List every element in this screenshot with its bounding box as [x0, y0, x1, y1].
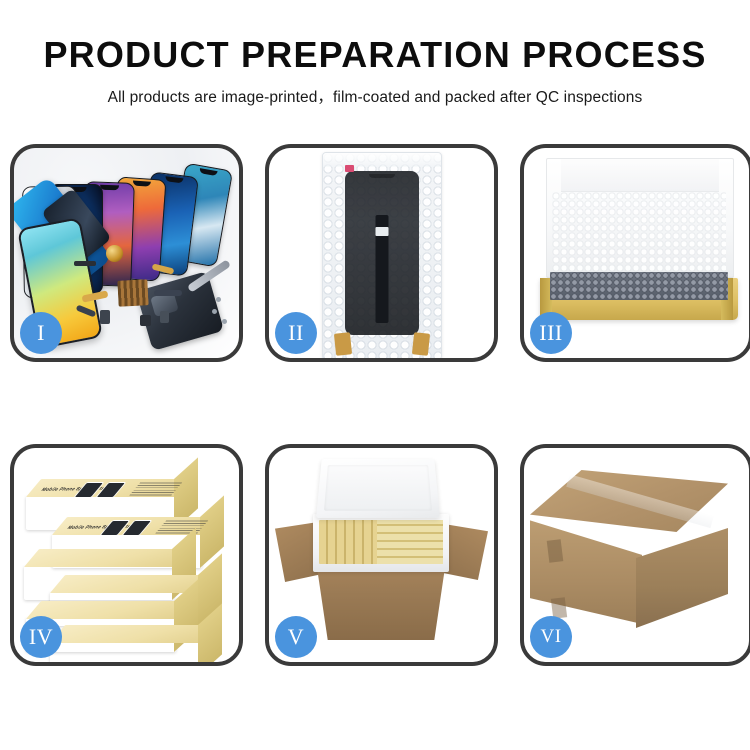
step-panel-1[interactable]: I — [10, 144, 243, 362]
step-panel-5[interactable]: V — [265, 444, 498, 666]
component-bar-icon — [74, 261, 96, 266]
driver-ic-icon — [375, 227, 388, 236]
step-panel-4[interactable]: Mobile Phone Spare Parts Mobile Phone Sp… — [10, 444, 243, 666]
step-panel-6[interactable]: VI — [520, 444, 750, 666]
notch-icon — [199, 168, 218, 176]
foam-lid-icon — [316, 459, 440, 518]
component-bar-icon — [100, 310, 110, 324]
step-badge-2: II — [275, 312, 317, 354]
component-bar-icon — [160, 311, 169, 323]
packed-retail-boxes — [377, 520, 443, 564]
process-steps-grid: I II — [10, 144, 740, 684]
step-panel-3[interactable]: III — [520, 144, 750, 362]
step-badge-1: I — [20, 312, 62, 354]
page-header: PRODUCT PREPARATION PROCESS All products… — [0, 0, 750, 107]
step-badge-6: VI — [530, 616, 572, 658]
chip-array-icon — [117, 279, 148, 307]
page-subtitle: All products are image-printed，film-coat… — [0, 76, 750, 107]
notch-icon — [132, 180, 151, 186]
carton-tab — [547, 539, 564, 563]
step-badge-3: III — [530, 312, 572, 354]
bubble-wrap-fill-icon — [550, 272, 728, 300]
step-badge-4: IV — [20, 616, 62, 658]
bag-seam — [323, 153, 441, 167]
gold-connector-icon — [411, 332, 429, 356]
notch-icon — [369, 174, 395, 178]
carton-body-icon — [307, 560, 455, 640]
notch-icon — [165, 176, 184, 183]
step-badge-5: V — [275, 616, 317, 658]
gold-connector-icon — [333, 332, 351, 356]
retail-box — [50, 642, 200, 662]
page-title: PRODUCT PREPARATION PROCESS — [0, 0, 750, 76]
box-top-face — [26, 601, 191, 619]
box-top-face — [24, 549, 189, 567]
pink-label-icon — [345, 165, 354, 172]
screw-icon — [222, 319, 227, 324]
foam-sheet-icon — [552, 192, 726, 274]
step-panel-2[interactable]: II — [265, 144, 498, 362]
bubble-wrap-bag-icon — [322, 152, 442, 358]
speaker-coil-icon — [106, 245, 123, 262]
component-bar-icon — [140, 315, 151, 326]
box-top-face — [50, 625, 215, 643]
screw-icon — [216, 297, 221, 302]
flex-cable-icon — [154, 290, 182, 296]
screw-icon — [212, 309, 217, 314]
notch-icon — [100, 185, 119, 191]
